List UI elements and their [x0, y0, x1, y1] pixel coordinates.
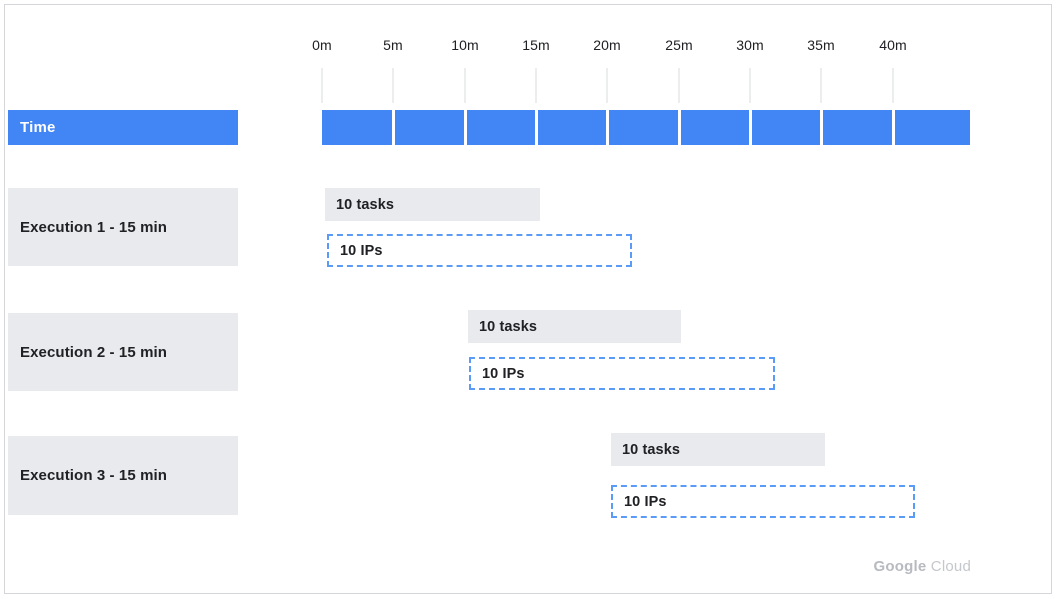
- tasks-bar-text: 10 tasks: [336, 197, 394, 213]
- tasks-bar: 10 tasks: [325, 188, 540, 221]
- axis-tick-label: 10m: [451, 37, 479, 53]
- time-bar: [322, 110, 970, 145]
- tasks-bar-text: 10 tasks: [479, 319, 537, 335]
- execution-row-label: Execution 1 - 15 min: [8, 188, 238, 266]
- axis-tick-mark: [820, 68, 822, 103]
- axis-tick-label: 0m: [312, 37, 332, 53]
- ips-bar: 10 IPs: [327, 234, 632, 267]
- axis-tick-label: 15m: [522, 37, 550, 53]
- google-cloud-logo: Google Cloud: [874, 558, 971, 575]
- axis-tick-mark: [464, 68, 466, 103]
- ips-bar-text: 10 IPs: [624, 494, 667, 510]
- axis-tick-mark: [535, 68, 537, 103]
- axis-tick-label: 30m: [736, 37, 764, 53]
- ips-bar: 10 IPs: [469, 357, 775, 390]
- axis-tick-mark: [749, 68, 751, 103]
- axis-tick-mark: [678, 68, 680, 103]
- execution-row-label-text: Execution 3 - 15 min: [20, 467, 167, 484]
- ips-bar-text: 10 IPs: [482, 366, 525, 382]
- axis-tick-mark: [606, 68, 608, 103]
- axis-tick-label: 25m: [665, 37, 693, 53]
- axis-tick-label: 40m: [879, 37, 907, 53]
- ips-bar: 10 IPs: [611, 485, 915, 518]
- axis-tick-label: 35m: [807, 37, 835, 53]
- tasks-bar: 10 tasks: [611, 433, 825, 466]
- execution-row-label-text: Execution 1 - 15 min: [20, 219, 167, 236]
- execution-row-label: Execution 3 - 15 min: [8, 436, 238, 515]
- axis-tick-mark: [321, 68, 323, 103]
- logo-google-text: Google: [874, 558, 927, 575]
- slide-canvas: 0m5m10m15m20m25m30m35m40m Time Execution…: [0, 0, 1057, 599]
- axis-tick-label: 20m: [593, 37, 621, 53]
- time-row-label: Time: [8, 110, 238, 145]
- tasks-bar-text: 10 tasks: [622, 442, 680, 458]
- time-segment-divider: [464, 110, 467, 145]
- axis-tick-mark: [392, 68, 394, 103]
- time-segment-divider: [820, 110, 823, 145]
- axis-tick-label: 5m: [383, 37, 403, 53]
- time-segment-divider: [606, 110, 609, 145]
- time-segment-divider: [535, 110, 538, 145]
- logo-cloud-text: Cloud: [931, 558, 971, 575]
- time-segment-divider: [392, 110, 395, 145]
- time-segment-divider: [749, 110, 752, 145]
- execution-row-label: Execution 2 - 15 min: [8, 313, 238, 391]
- tasks-bar: 10 tasks: [468, 310, 681, 343]
- time-row-label-text: Time: [20, 119, 56, 136]
- time-segment-divider: [678, 110, 681, 145]
- execution-row-label-text: Execution 2 - 15 min: [20, 344, 167, 361]
- ips-bar-text: 10 IPs: [340, 243, 383, 259]
- time-segment-divider: [892, 110, 895, 145]
- axis-tick-mark: [892, 68, 894, 103]
